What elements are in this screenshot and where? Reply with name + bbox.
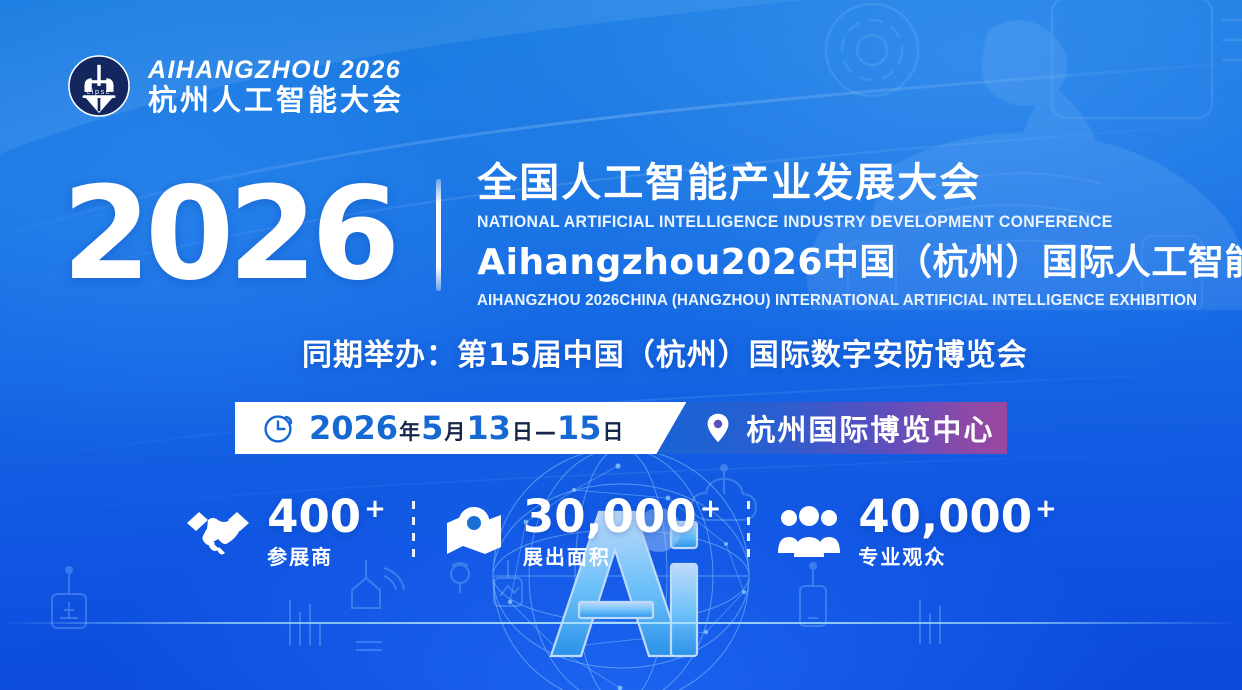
conference-banner: cipse AIHANGZHOU 2026 杭州人工智能大会 2026 全国人工…	[0, 0, 1242, 690]
emblem-text: cipse	[87, 88, 111, 96]
stat-number: 400	[267, 494, 361, 539]
date-month: 5	[421, 412, 443, 444]
stat-copy: 400 + 参展商	[267, 494, 386, 570]
stat-plus: +	[700, 496, 722, 522]
hero-title-group: 全国人工智能产业发展大会 NATIONAL ARTIFICIAL INTELLI…	[477, 160, 1242, 311]
date-venue-bar: 2026 年 5 月 13 日 — 15 日 杭州国际博览中心	[235, 402, 1007, 454]
conference-title-chinese: 全国人工智能产业发展大会	[477, 160, 1242, 206]
stat-number: 40,000	[858, 494, 1032, 539]
logo-chinese-name: 杭州人工智能大会	[148, 86, 404, 115]
stat-plus: +	[364, 496, 386, 522]
stat-label: 展出面积	[523, 541, 721, 570]
date-day-unit-1: 日	[511, 422, 534, 443]
brand-logo: cipse AIHANGZHOU 2026 杭州人工智能大会	[68, 55, 404, 117]
exhibition-title-english: AIHANGZHOU 2026CHINA (HANGZHOU) INTERNAT…	[477, 292, 1242, 311]
location-pin-icon	[706, 413, 730, 443]
exhibition-title-chinese: Aihangzhou2026中国（杭州）国际人工智能展览会	[477, 242, 1242, 284]
people-group-icon	[776, 505, 842, 559]
handshake-icon	[185, 505, 251, 559]
stat-copy: 40,000 + 专业观众	[858, 494, 1056, 570]
date-panel: 2026 年 5 月 13 日 — 15 日	[235, 402, 686, 454]
cipse-emblem-icon: cipse	[68, 55, 130, 117]
date-day-end: 15	[557, 412, 602, 444]
stat-exhibition-area: 30,000 + 展出面积	[415, 494, 747, 570]
stat-number: 30,000	[523, 494, 697, 539]
hero-year-graphic: 2026	[62, 171, 394, 299]
stat-plus: +	[1035, 496, 1057, 522]
date-year: 2026	[309, 412, 398, 444]
stat-visitors: 40,000 + 专业观众	[750, 494, 1082, 570]
conference-title-english: NATIONAL ARTIFICIAL INTELLIGENCE INDUSTR…	[477, 213, 1242, 233]
stat-number-wrap: 40,000 +	[858, 494, 1056, 539]
stat-number-wrap: 30,000 +	[523, 494, 721, 539]
concurrent-event-line: 同期举办：第15届中国（杭州）国际数字安防博览会	[302, 330, 1028, 374]
venue-name: 杭州国际博览中心	[746, 407, 994, 449]
logo-english-name: AIHANGZHOU 2026	[148, 58, 404, 83]
date-text: 2026 年 5 月 13 日 — 15 日	[309, 412, 624, 444]
date-day-unit-2: 日	[601, 422, 624, 443]
date-dash: —	[534, 422, 557, 443]
date-month-unit: 月	[443, 422, 466, 443]
stat-copy: 30,000 + 展出面积	[523, 494, 721, 570]
stat-number-wrap: 400 +	[267, 494, 386, 539]
light-burst	[231, 560, 1011, 690]
date-year-unit: 年	[398, 422, 421, 443]
horizon-line	[0, 622, 1242, 624]
stat-label: 参展商	[267, 541, 386, 570]
logo-text-block: AIHANGZHOU 2026 杭州人工智能大会	[148, 58, 404, 115]
stat-label: 专业观众	[858, 541, 1056, 570]
stat-exhibitors: 400 + 参展商	[159, 494, 412, 570]
stats-row: 400 + 参展商 30,000 +	[0, 494, 1242, 570]
clock-icon	[263, 412, 295, 444]
date-day-start: 13	[466, 412, 511, 444]
venue-panel: 杭州国际博览中心	[654, 402, 1007, 454]
map-pin-icon	[441, 505, 507, 559]
hero-block: 2026 全国人工智能产业发展大会 NATIONAL ARTIFICIAL IN…	[62, 160, 1242, 311]
hero-divider	[436, 179, 441, 291]
